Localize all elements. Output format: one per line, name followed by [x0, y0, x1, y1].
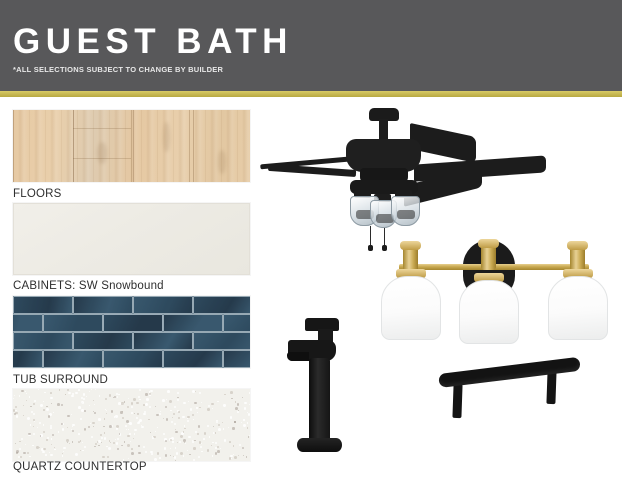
quartz-fleck: [150, 432, 151, 433]
quartz-fleck: [14, 395, 16, 397]
quartz-fleck: [89, 391, 90, 392]
quartz-fleck: [131, 406, 133, 408]
quartz-fleck: [184, 428, 186, 430]
quartz-fleck: [94, 404, 95, 405]
quartz-fleck: [86, 396, 87, 397]
quartz-fleck: [175, 447, 177, 449]
swatch-cabinets: [13, 203, 250, 275]
quartz-fleck: [71, 395, 73, 397]
tile-brick: [103, 350, 163, 368]
fan-downrod: [379, 119, 388, 141]
quartz-fleck: [72, 441, 74, 443]
quartz-fleck: [39, 422, 41, 424]
quartz-fleck: [117, 448, 119, 450]
tile-brick: [73, 332, 133, 350]
quartz-fleck: [155, 431, 156, 432]
quartz-fleck: [148, 419, 150, 421]
quartz-fleck: [38, 389, 39, 390]
vanity-light-image: [378, 238, 610, 340]
quartz-fleck: [170, 410, 171, 411]
quartz-fleck: [81, 409, 84, 412]
quartz-fleck: [115, 415, 117, 417]
tile-brick: [43, 314, 103, 332]
quartz-fleck: [242, 447, 244, 449]
quartz-fleck: [217, 450, 220, 453]
quartz-fleck: [88, 426, 90, 428]
quartz-fleck: [194, 440, 196, 442]
quartz-fleck: [193, 447, 195, 449]
cabinet-pull-image: [435, 362, 585, 424]
quartz-fleck: [174, 456, 177, 459]
quartz-fleck: [198, 456, 201, 459]
quartz-fleck: [34, 421, 35, 422]
faucet-body: [309, 358, 330, 442]
quartz-fleck: [247, 427, 249, 429]
quartz-fleck: [33, 426, 34, 427]
quartz-fleck: [164, 447, 167, 450]
quartz-fleck: [166, 418, 169, 421]
quartz-fleck: [150, 390, 152, 392]
quartz-fleck: [75, 453, 78, 456]
quartz-fleck: [68, 392, 71, 395]
quartz-fleck: [187, 420, 189, 422]
quartz-fleck: [144, 411, 146, 413]
quartz-fleck: [151, 453, 153, 455]
quartz-fleck: [109, 394, 111, 396]
quartz-fleck: [33, 419, 35, 421]
quartz-fleck: [92, 422, 94, 424]
quartz-fleck: [43, 448, 46, 451]
quartz-fleck: [204, 432, 207, 435]
quartz-fleck: [178, 417, 180, 419]
quartz-fleck: [50, 397, 52, 399]
quartz-fleck: [223, 428, 224, 429]
quartz-fleck: [94, 412, 96, 414]
quartz-fleck: [62, 455, 64, 457]
label-cabinets: CABINETS: SW Snowbound: [13, 280, 164, 292]
quartz-fleck: [27, 417, 30, 420]
selection-board: GUEST BATH *ALL SELECTIONS SUBJECT TO CH…: [0, 0, 622, 480]
quartz-fleck: [23, 415, 24, 416]
quartz-fleck: [175, 431, 177, 433]
quartz-fleck: [178, 411, 180, 413]
quartz-fleck: [199, 392, 201, 394]
quartz-fleck: [127, 444, 130, 447]
quartz-fleck: [82, 450, 83, 451]
quartz-fleck: [131, 402, 134, 405]
quartz-fleck: [216, 421, 218, 423]
swatch-floors: [13, 110, 250, 182]
quartz-fleck: [33, 433, 35, 435]
quartz-fleck: [233, 445, 234, 446]
quartz-fleck: [235, 407, 238, 410]
quartz-fleck: [209, 436, 211, 438]
quartz-fleck: [174, 406, 176, 408]
quartz-fleck: [138, 452, 140, 454]
quartz-fleck: [224, 439, 227, 442]
quartz-fleck: [201, 443, 202, 444]
quartz-fleck: [103, 426, 104, 427]
quartz-fleck: [16, 415, 19, 418]
quartz-fleck: [177, 392, 179, 394]
quartz-fleck: [115, 439, 116, 440]
quartz-fleck: [111, 410, 113, 412]
tile-brick: [13, 296, 73, 314]
quartz-fleck: [105, 398, 107, 400]
quartz-fleck: [213, 426, 214, 427]
quartz-fleck: [19, 395, 21, 397]
quartz-fleck: [246, 456, 248, 458]
quartz-fleck: [214, 432, 215, 433]
quartz-fleck: [193, 459, 195, 461]
quartz-fleck: [43, 401, 44, 402]
quartz-fleck: [196, 407, 197, 408]
quartz-fleck: [222, 422, 224, 424]
quartz-fleck: [29, 396, 30, 397]
quartz-fleck: [167, 390, 170, 393]
quartz-fleck: [65, 394, 66, 395]
vanity-glass-shade: [459, 280, 519, 344]
quartz-fleck: [207, 449, 210, 452]
quartz-fleck: [249, 392, 250, 394]
quartz-fleck: [45, 454, 47, 456]
swatch-quartz-countertop: [13, 389, 250, 461]
tile-brick: [223, 350, 250, 368]
quartz-fleck: [194, 402, 196, 404]
quartz-fleck: [218, 428, 221, 431]
quartz-fleck: [212, 455, 213, 456]
quartz-fleck: [117, 438, 119, 440]
quartz-fleck: [120, 411, 122, 413]
quartz-fleck: [91, 389, 92, 390]
quartz-fleck: [59, 389, 61, 391]
quartz-fleck: [127, 406, 129, 408]
quartz-fleck: [72, 426, 73, 427]
quartz-fleck: [84, 446, 86, 448]
quartz-fleck: [146, 398, 148, 400]
quartz-fleck: [192, 441, 194, 443]
quartz-fleck: [25, 444, 26, 445]
quartz-fleck: [195, 391, 196, 392]
quartz-fleck: [72, 430, 74, 432]
quartz-fleck: [133, 398, 136, 401]
quartz-fleck: [138, 445, 140, 447]
quartz-fleck: [249, 404, 250, 405]
quartz-fleck: [15, 406, 17, 408]
quartz-fleck: [95, 443, 97, 445]
quartz-fleck: [82, 442, 83, 443]
quartz-fleck: [106, 410, 107, 411]
quartz-fleck: [243, 419, 244, 420]
quartz-fleck: [172, 441, 173, 442]
quartz-fleck: [121, 445, 122, 446]
quartz-fleck: [43, 431, 46, 434]
tile-brick: [133, 332, 193, 350]
quartz-fleck: [19, 448, 21, 450]
quartz-fleck: [67, 427, 68, 428]
quartz-fleck: [207, 408, 210, 411]
quartz-fleck: [128, 423, 129, 424]
quartz-fleck: [91, 436, 93, 438]
quartz-fleck: [131, 452, 134, 455]
quartz-fleck: [98, 418, 100, 420]
quartz-fleck: [58, 431, 60, 433]
quartz-fleck: [50, 392, 52, 394]
quartz-fleck: [116, 427, 119, 430]
quartz-fleck: [125, 425, 127, 427]
quartz-fleck: [243, 455, 244, 456]
quartz-fleck: [94, 446, 95, 447]
tile-brick: [103, 314, 163, 332]
quartz-fleck: [223, 404, 225, 406]
fan-pull-chain: [370, 226, 371, 246]
quartz-fleck: [13, 398, 14, 399]
quartz-fleck: [50, 454, 52, 456]
quartz-fleck: [138, 396, 140, 398]
vanity-fitter: [481, 244, 496, 270]
quartz-fleck: [238, 410, 239, 411]
quartz-fleck: [162, 399, 165, 402]
quartz-fleck: [165, 406, 167, 408]
quartz-fleck: [78, 433, 80, 435]
quartz-fleck: [163, 433, 165, 435]
quartz-fleck: [99, 395, 100, 396]
quartz-fleck: [34, 400, 36, 402]
quartz-fleck: [139, 419, 142, 422]
quartz-fleck: [193, 419, 194, 420]
quartz-fleck: [63, 451, 64, 452]
quartz-fleck: [211, 445, 212, 446]
quartz-fleck: [192, 414, 194, 416]
quartz-fleck: [170, 455, 171, 456]
quartz-fleck: [71, 414, 72, 415]
quartz-fleck: [177, 399, 179, 401]
quartz-fleck: [217, 401, 219, 403]
quartz-fleck: [131, 448, 133, 450]
tile-brick: [13, 350, 43, 368]
label-quartz-countertop: QUARTZ COUNTERTOP: [13, 461, 147, 473]
quartz-fleck: [93, 400, 94, 401]
quartz-fleck: [232, 427, 234, 429]
quartz-fleck: [220, 448, 221, 449]
quartz-fleck: [159, 457, 161, 459]
quartz-fleck: [248, 413, 250, 415]
quartz-fleck: [185, 443, 186, 444]
quartz-fleck: [248, 436, 249, 437]
tile-brick: [133, 296, 193, 314]
quartz-fleck: [136, 402, 139, 405]
tile-brick: [193, 296, 250, 314]
quartz-fleck: [25, 391, 26, 392]
quartz-fleck: [183, 455, 185, 457]
quartz-fleck: [213, 432, 215, 434]
quartz-fleck: [207, 425, 209, 427]
quartz-fleck: [166, 399, 167, 400]
quartz-fleck: [93, 426, 94, 427]
quartz-fleck: [198, 425, 201, 428]
quartz-fleck: [16, 452, 17, 453]
quartz-fleck: [133, 438, 134, 439]
quartz-fleck: [51, 438, 53, 440]
quartz-fleck: [199, 407, 200, 408]
quartz-fleck: [212, 442, 213, 443]
quartz-fleck: [127, 435, 129, 437]
disclaimer-text: *ALL SELECTIONS SUBJECT TO CHANGE BY BUI…: [13, 65, 223, 74]
quartz-fleck: [116, 442, 118, 444]
tile-brick: [73, 296, 133, 314]
quartz-fleck: [21, 390, 23, 392]
quartz-fleck: [201, 402, 202, 403]
quartz-fleck: [228, 427, 229, 428]
quartz-fleck: [40, 404, 43, 407]
quartz-fleck: [197, 412, 198, 413]
quartz-fleck: [141, 426, 144, 429]
quartz-fleck: [116, 425, 119, 428]
quartz-fleck: [145, 451, 147, 453]
tile-brick: [13, 314, 43, 332]
quartz-fleck: [244, 407, 246, 409]
quartz-fleck: [50, 427, 52, 429]
label-floors: FLOORS: [13, 188, 62, 200]
quartz-fleck: [177, 442, 178, 443]
quartz-fleck: [224, 394, 225, 395]
quartz-fleck: [108, 447, 111, 450]
quartz-fleck: [54, 449, 56, 451]
quartz-fleck: [67, 415, 69, 417]
tile-brick: [13, 332, 73, 350]
quartz-fleck: [155, 406, 156, 407]
quartz-fleck: [145, 393, 147, 395]
faucet-spout-lip: [287, 352, 309, 361]
quartz-fleck: [15, 443, 16, 444]
quartz-fleck: [128, 429, 129, 430]
quartz-fleck: [117, 396, 118, 397]
quartz-fleck: [234, 421, 235, 422]
quartz-fleck: [43, 424, 45, 426]
quartz-fleck: [208, 405, 210, 407]
quartz-fleck: [169, 400, 172, 403]
quartz-fleck: [46, 406, 47, 407]
quartz-fleck: [156, 414, 159, 417]
quartz-fleck: [215, 452, 218, 455]
tile-brick: [163, 350, 223, 368]
quartz-fleck: [175, 460, 176, 461]
quartz-fleck: [98, 440, 101, 443]
quartz-fleck: [188, 401, 189, 402]
quartz-fleck: [143, 404, 145, 406]
quartz-fleck: [203, 438, 205, 440]
quartz-fleck: [90, 423, 91, 424]
quartz-fleck: [102, 456, 104, 458]
quartz-fleck: [78, 406, 81, 409]
quartz-fleck: [23, 405, 25, 407]
quartz-fleck: [139, 389, 141, 391]
tile-brick: [43, 350, 103, 368]
quartz-fleck: [211, 403, 213, 405]
faucet-base: [297, 438, 342, 452]
quartz-fleck: [53, 412, 54, 413]
ceiling-fan-image: [262, 104, 554, 250]
quartz-fleck: [61, 404, 63, 406]
tile-brick: [193, 332, 250, 350]
quartz-fleck: [179, 441, 181, 443]
quartz-fleck: [163, 418, 164, 419]
pull-post: [452, 384, 462, 418]
quartz-fleck: [241, 422, 242, 423]
quartz-fleck: [159, 413, 161, 415]
quartz-fleck: [107, 456, 110, 459]
quartz-fleck: [237, 403, 240, 406]
quartz-fleck: [145, 403, 148, 406]
quartz-fleck: [23, 452, 26, 455]
quartz-fleck: [128, 398, 129, 399]
swatch-tub-surround: [13, 296, 250, 368]
quartz-fleck: [21, 438, 24, 441]
quartz-fleck: [183, 431, 184, 432]
quartz-fleck: [26, 393, 27, 394]
quartz-fleck: [139, 399, 140, 400]
quartz-fleck: [176, 452, 178, 454]
quartz-fleck: [230, 391, 233, 394]
quartz-fleck: [134, 433, 136, 435]
quartz-fleck: [197, 433, 198, 434]
pull-post: [546, 370, 556, 404]
quartz-fleck: [114, 396, 116, 398]
quartz-fleck: [118, 394, 119, 395]
faucet-image: [285, 318, 347, 466]
label-tub-surround: TUB SURROUND: [13, 374, 108, 386]
quartz-fleck: [80, 450, 81, 451]
quartz-fleck: [154, 458, 157, 461]
quartz-fleck: [165, 454, 168, 457]
quartz-fleck: [173, 413, 175, 415]
quartz-fleck: [184, 425, 186, 427]
quartz-fleck: [39, 447, 40, 448]
tile-brick: [163, 314, 223, 332]
quartz-fleck: [157, 452, 160, 455]
quartz-fleck: [27, 452, 29, 454]
quartz-fleck: [98, 445, 99, 446]
quartz-fleck: [28, 433, 30, 435]
quartz-fleck: [81, 401, 84, 404]
quartz-fleck: [19, 441, 20, 442]
quartz-fleck: [160, 411, 162, 413]
quartz-fleck: [26, 400, 27, 401]
quartz-fleck: [84, 410, 86, 412]
quartz-fleck: [104, 418, 106, 420]
quartz-fleck: [187, 418, 188, 419]
quartz-fleck: [231, 458, 232, 459]
quartz-fleck: [231, 398, 233, 400]
quartz-fleck: [244, 402, 246, 404]
vanity-glass-shade: [548, 276, 608, 340]
quartz-fleck: [104, 437, 107, 440]
quartz-fleck: [170, 448, 171, 449]
quartz-fleck: [238, 455, 239, 456]
quartz-fleck: [182, 416, 185, 419]
quartz-fleck: [149, 406, 151, 408]
quartz-fleck: [113, 442, 115, 444]
quartz-fleck: [218, 424, 220, 426]
quartz-fleck: [36, 446, 39, 449]
quartz-fleck: [32, 445, 34, 447]
quartz-fleck: [78, 441, 80, 443]
quartz-fleck: [247, 422, 248, 423]
quartz-fleck: [137, 413, 138, 414]
quartz-fleck: [130, 441, 131, 442]
quartz-fleck: [243, 424, 246, 427]
quartz-fleck: [61, 423, 63, 425]
